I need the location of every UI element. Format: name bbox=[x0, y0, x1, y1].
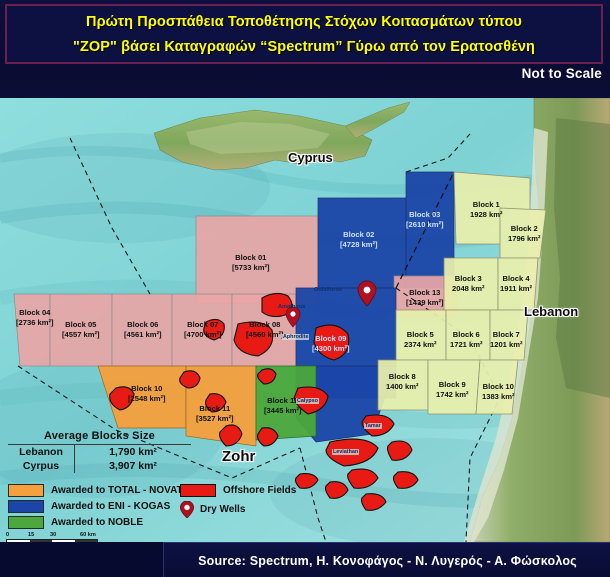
table-row: Lebanon 1,790 km² bbox=[8, 445, 191, 459]
legend-label-dry-wells: Dry Wells bbox=[200, 504, 245, 515]
legend-features: Offshore Fields Dry Wells bbox=[180, 483, 400, 520]
lb-block-10-shape bbox=[476, 360, 518, 414]
field-label-aphrodite: Aphrodite bbox=[282, 334, 309, 340]
table-row: Cyrpus 3,907 km² bbox=[8, 459, 191, 473]
legend-label-eni-kogas: Awarded to ENI - KOGAS bbox=[51, 501, 170, 512]
lb-block-9-shape bbox=[428, 360, 480, 414]
average-row-label-cyprus: Cyrpus bbox=[8, 459, 75, 473]
block-06-shape bbox=[112, 294, 172, 366]
map-screenshot: Πρώτη Προσπάθεια Τοποθέτησης Στόχων Κοιτ… bbox=[0, 0, 610, 577]
lb-block-6-shape bbox=[446, 310, 490, 360]
field-label-leviathan: Leviathan bbox=[332, 449, 359, 455]
source-box: Source: Spectrum, Η. Κονοφάγος - Ν. Λυγε… bbox=[163, 542, 610, 577]
average-row-value-cyprus: 3,907 km² bbox=[75, 459, 191, 473]
lb-block-8-shape bbox=[378, 360, 428, 410]
legend-item-dry-wells: Dry Wells bbox=[180, 499, 400, 519]
legend-item-offshore-fields: Offshore Fields bbox=[180, 483, 400, 498]
average-table-title: Average Blocks Size bbox=[8, 430, 191, 445]
dry-well-pin-icon bbox=[180, 501, 194, 517]
country-label-lebanon: Lebanon bbox=[524, 304, 578, 319]
average-row-label-lebanon: Lebanon bbox=[8, 445, 75, 459]
offshore-field-swatch-icon bbox=[180, 484, 216, 497]
country-label-cyprus: Cyprus bbox=[288, 150, 333, 165]
scale-tick-labels: 0 15 30 60 km bbox=[6, 532, 126, 538]
lb-block-3-shape bbox=[444, 258, 498, 310]
not-to-scale-note: Not to Scale bbox=[522, 66, 602, 81]
legend-label-total-novatek: Awarded to TOTAL - NOVATEK bbox=[51, 485, 197, 496]
lb-block-4-shape bbox=[498, 258, 538, 310]
scale-tick-15: 15 bbox=[28, 532, 50, 538]
legend-label-noble: Awarded to NOBLE bbox=[51, 517, 143, 528]
map-label-zohr: Zohr bbox=[222, 448, 255, 465]
title-line-2: "ZOP" βάσει Καταγραφών “Spectrum” Γύρω α… bbox=[7, 35, 601, 60]
levant-mountains bbox=[554, 118, 610, 398]
legend-swatch-eni-kogas bbox=[8, 500, 44, 513]
scale-tick-0: 0 bbox=[6, 532, 28, 538]
field-label-calypso: Calypso bbox=[296, 398, 319, 404]
legend-swatch-total-novatek bbox=[8, 484, 44, 497]
header-banner: Πρώτη Προσπάθεια Τοποθέτησης Στόχων Κοιτ… bbox=[0, 0, 610, 100]
lb-block-7-shape bbox=[490, 310, 528, 360]
well-label-amathous: Amathous bbox=[278, 304, 305, 310]
title-box: Πρώτη Προσπάθεια Τοποθέτησης Στόχων Κοιτ… bbox=[5, 4, 603, 64]
map-canvas[interactable]: Cyprus Lebanon Zohr Block 01[5733 km²] B… bbox=[0, 98, 610, 542]
lb-block-5-shape bbox=[396, 310, 446, 360]
source-text: Source: Spectrum, Η. Κονοφάγος - Ν. Λυγε… bbox=[198, 554, 577, 568]
block-04-shape bbox=[14, 294, 50, 366]
title-line-1: Πρώτη Προσπάθεια Τοποθέτησης Στόχων Κοιτ… bbox=[7, 10, 601, 35]
scale-bar: 0 15 30 60 km Earliest production: May 1… bbox=[6, 532, 126, 542]
well-label-onisiforos: Onisiforos bbox=[314, 287, 342, 293]
legend-label-offshore-fields: Offshore Fields bbox=[223, 485, 296, 496]
average-row-value-lebanon: 1,790 km² bbox=[75, 445, 191, 459]
legend-swatch-noble bbox=[8, 516, 44, 529]
scale-tick-30: 30 bbox=[50, 532, 80, 538]
scale-tick-60: 60 km bbox=[80, 532, 96, 538]
lb-block-2-shape bbox=[500, 208, 546, 258]
average-blocks-size-table: Average Blocks Size Lebanon 1,790 km² Cy… bbox=[8, 430, 191, 473]
block-02-shape bbox=[318, 198, 406, 288]
block-05-shape bbox=[50, 294, 112, 366]
field-label-tamar: Tamar bbox=[364, 423, 382, 429]
